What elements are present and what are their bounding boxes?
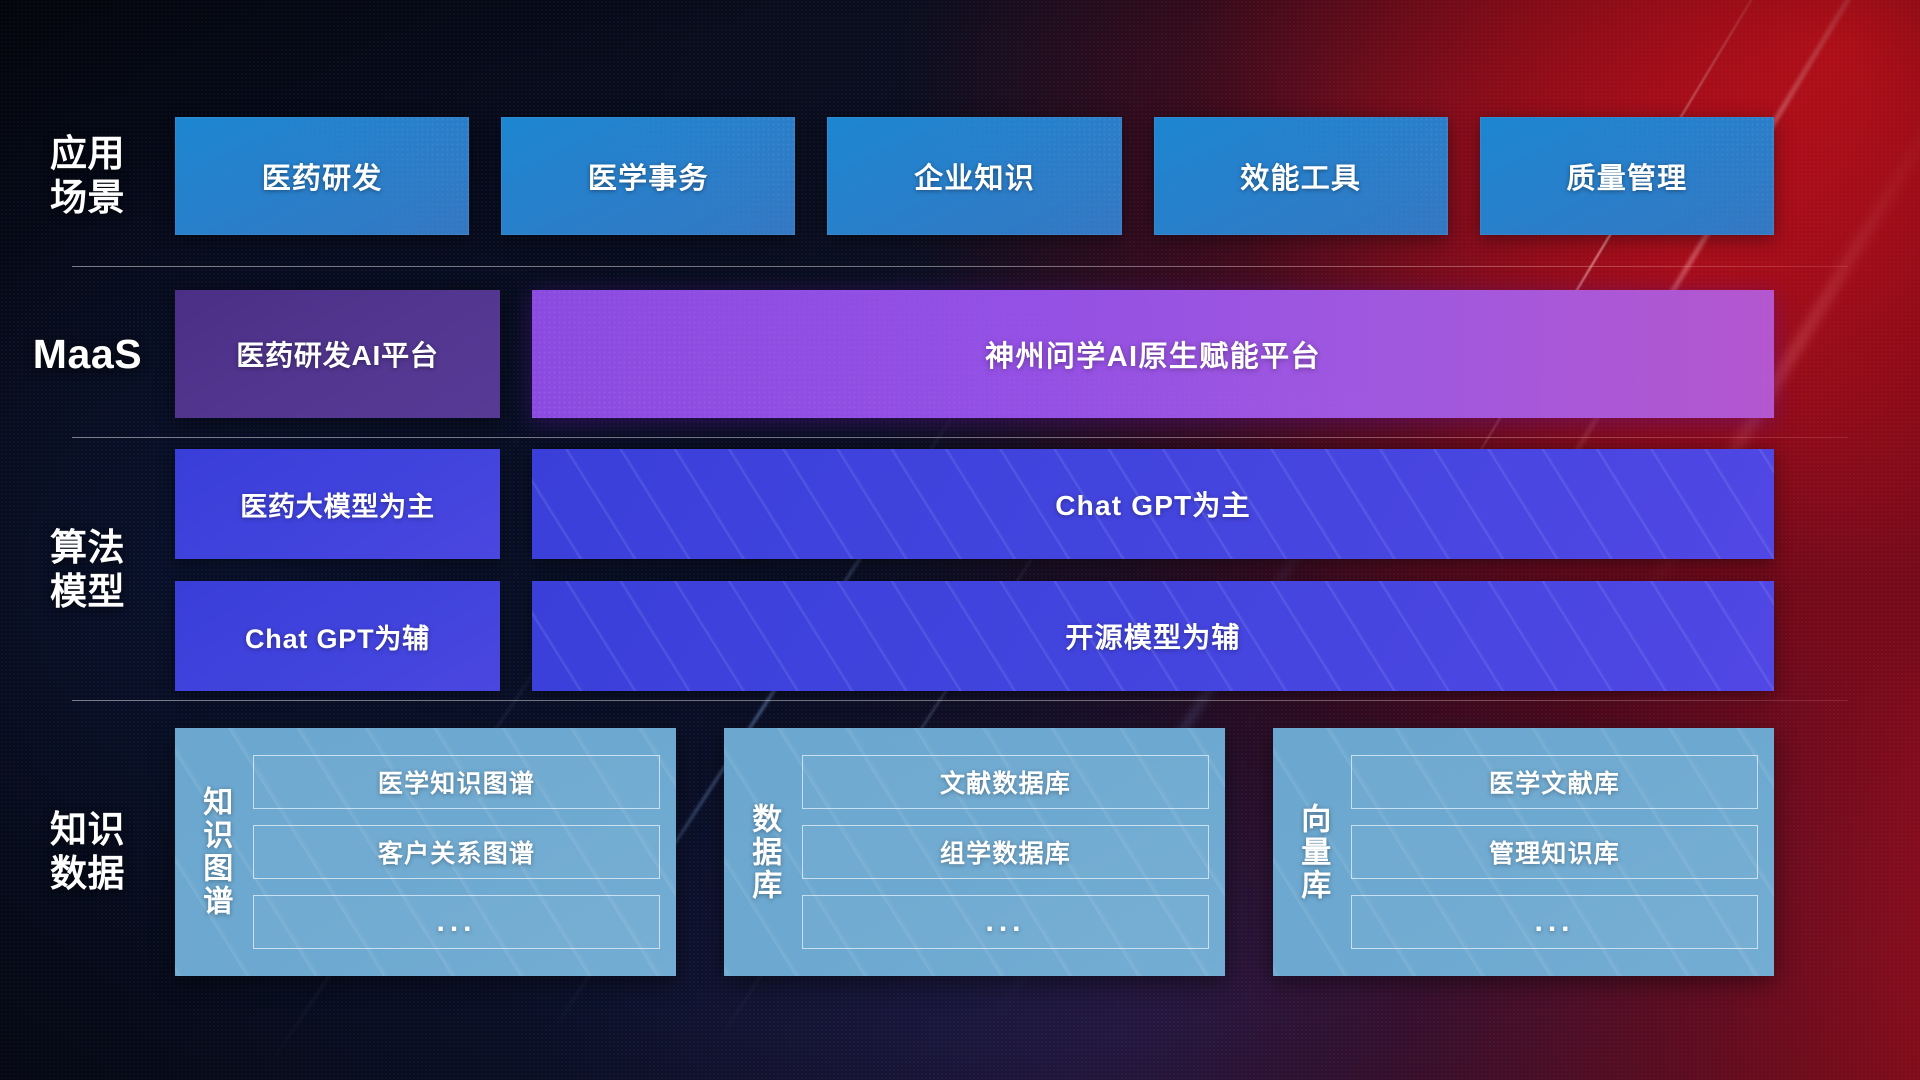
algo-box-label: Chat GPT为主 [1055,484,1251,524]
knowledge-item-list: 文献数据库 组学数据库 ... [802,742,1209,962]
algorithm-row-secondary: Chat GPT为辅 开源模型为辅 [175,581,1774,691]
maas-box-label: 医药研发AI平台 [236,334,438,374]
tier-divider-1 [72,266,1848,267]
algo-box-pharma-large-model-primary[interactable]: 医药大模型为主 [175,449,500,559]
tier-application-scenarios: 应用 场景 医药研发 医学事务 企业知识 效能工具 质量管理 [0,116,1920,236]
tier-label-knowledge-data: 知识 数据 [0,808,175,895]
application-box-row: 医药研发 医学事务 企业知识 效能工具 质量管理 [175,117,1774,235]
tier-label-line1: 应用 [0,132,175,176]
knowledge-panel-vertical-label: 向量库 [1283,742,1341,962]
app-box-quality-management[interactable]: 质量管理 [1480,117,1774,235]
knowledge-panel-database: 数据库 文献数据库 组学数据库 ... [724,728,1225,976]
knowledge-item-medical-knowledge-graph[interactable]: 医学知识图谱 [253,755,660,809]
maas-box-row: 医药研发AI平台 神州问学AI原生赋能平台 [175,290,1774,418]
knowledge-item-literature-database[interactable]: 文献数据库 [802,755,1209,809]
algo-box-label: 开源模型为辅 [1065,616,1240,656]
maas-box-label: 神州问学AI原生赋能平台 [985,333,1321,375]
tier-body-maas: 医药研发AI平台 神州问学AI原生赋能平台 [175,290,1920,418]
tier-label-line2: 模型 [0,570,175,614]
tier-divider-2 [72,437,1848,438]
tier-label-maas: MaaS [0,330,175,378]
knowledge-panel-vertical-label: 数据库 [734,742,792,962]
tier-label-line2: 数据 [0,852,175,896]
maas-box-shenzhou-ai-platform[interactable]: 神州问学AI原生赋能平台 [532,290,1774,418]
app-box-enterprise-knowledge[interactable]: 企业知识 [827,117,1121,235]
algo-box-label: 医药大模型为主 [240,485,435,524]
knowledge-panel-knowledge-graph: 知识图谱 医学知识图谱 客户关系图谱 ... [175,728,676,976]
tier-body-knowledge-data: 知识图谱 医学知识图谱 客户关系图谱 ... 数据库 文献数据库 组学数据库 .… [175,728,1920,976]
app-box-label: 医药研发 [262,155,383,197]
tier-body-algorithm-models: 医药大模型为主 Chat GPT为主 Chat GPT为辅 开源模型为辅 [175,449,1920,691]
algo-box-opensource-secondary[interactable]: 开源模型为辅 [532,581,1774,691]
tier-knowledge-data: 知识 数据 知识图谱 医学知识图谱 客户关系图谱 ... 数据库 文献数据库 [0,727,1920,977]
knowledge-panel-row: 知识图谱 医学知识图谱 客户关系图谱 ... 数据库 文献数据库 组学数据库 .… [175,728,1774,976]
knowledge-item-more[interactable]: ... [1351,895,1758,949]
knowledge-item-omics-database[interactable]: 组学数据库 [802,825,1209,879]
tier-label-line2: 场景 [0,176,175,220]
knowledge-item-list: 医学知识图谱 客户关系图谱 ... [253,742,660,962]
knowledge-panel-vector-store: 向量库 医学文献库 管理知识库 ... [1273,728,1774,976]
knowledge-item-more[interactable]: ... [253,895,660,949]
tier-label-algorithm-models: 算法 模型 [0,526,175,613]
app-box-label: 质量管理 [1567,155,1688,197]
architecture-diagram: 应用 场景 医药研发 医学事务 企业知识 效能工具 质量管理 [0,0,1920,1080]
app-box-medical-affairs[interactable]: 医学事务 [501,117,795,235]
tier-label-line1: 算法 [0,526,175,570]
tier-divider-3 [72,700,1848,701]
knowledge-item-management-knowledge-store[interactable]: 管理知识库 [1351,825,1758,879]
algo-box-label: Chat GPT为辅 [245,617,430,656]
maas-box-pharma-ai-platform[interactable]: 医药研发AI平台 [175,290,500,418]
knowledge-item-medical-literature-store[interactable]: 医学文献库 [1351,755,1758,809]
algo-box-chatgpt-primary[interactable]: Chat GPT为主 [532,449,1774,559]
knowledge-item-customer-relation-graph[interactable]: 客户关系图谱 [253,825,660,879]
algorithm-box-grid: 医药大模型为主 Chat GPT为主 Chat GPT为辅 开源模型为辅 [175,449,1774,691]
tier-label-application-scenarios: 应用 场景 [0,132,175,219]
app-box-pharma-rd[interactable]: 医药研发 [175,117,469,235]
app-box-label: 企业知识 [914,155,1035,197]
knowledge-item-more[interactable]: ... [802,895,1209,949]
algo-box-chatgpt-secondary[interactable]: Chat GPT为辅 [175,581,500,691]
tier-label-line1: 知识 [0,808,175,852]
app-box-label: 医学事务 [588,155,709,197]
app-box-efficiency-tools[interactable]: 效能工具 [1154,117,1448,235]
knowledge-item-list: 医学文献库 管理知识库 ... [1351,742,1758,962]
knowledge-panel-vertical-label: 知识图谱 [185,742,243,962]
tier-body-application-scenarios: 医药研发 医学事务 企业知识 效能工具 质量管理 [175,117,1920,235]
tier-algorithm-models: 算法 模型 医药大模型为主 Chat GPT为主 Chat GPT为辅 [0,460,1920,680]
algorithm-row-primary: 医药大模型为主 Chat GPT为主 [175,449,1774,559]
app-box-label: 效能工具 [1240,155,1361,197]
tier-maas: MaaS 医药研发AI平台 神州问学AI原生赋能平台 [0,289,1920,419]
